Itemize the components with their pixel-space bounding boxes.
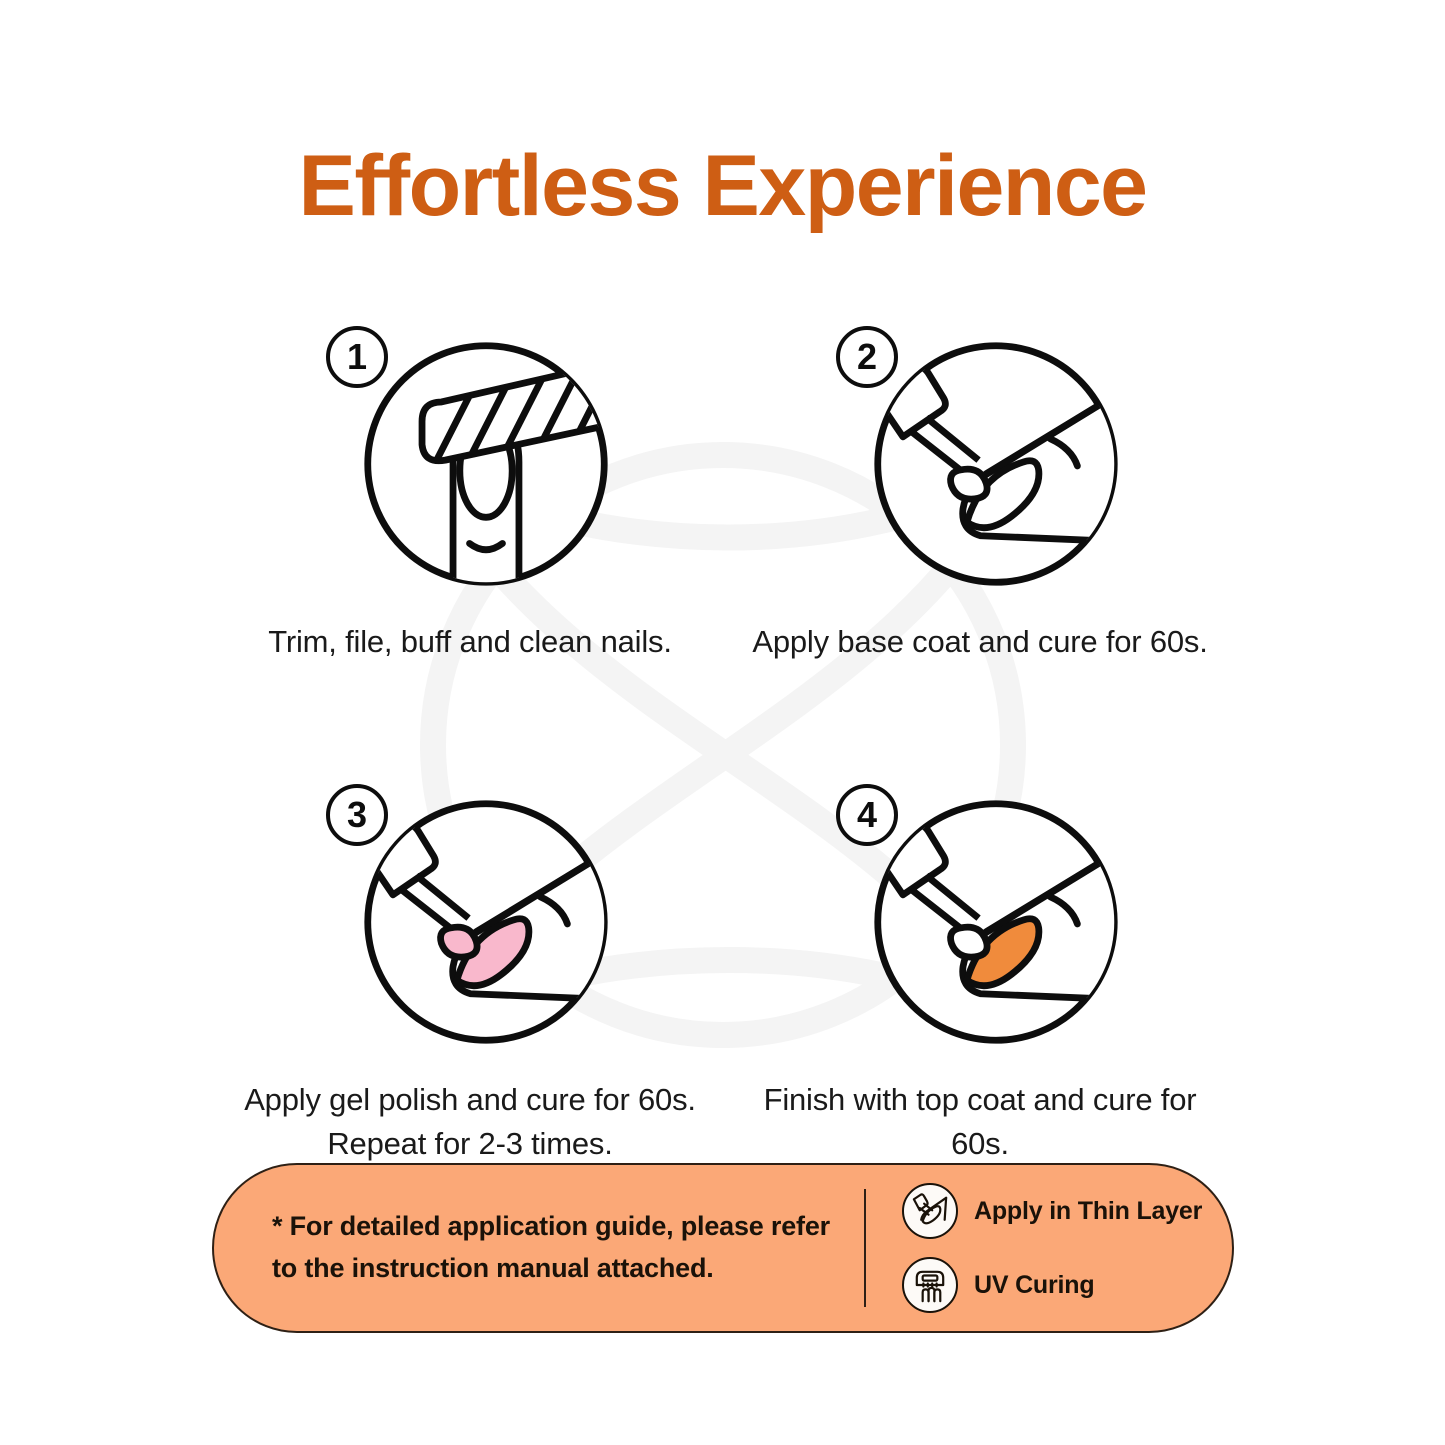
steps-row-top: 1 bbox=[230, 318, 1220, 664]
banner-note-text: * For detailed application guide, please… bbox=[214, 1206, 854, 1290]
step-caption-3: Apply gel polish and cure for 60s. Repea… bbox=[235, 1078, 705, 1166]
steps-grid: 1 bbox=[230, 318, 1220, 1166]
step-caption-2: Apply base coat and cure for 60s. bbox=[745, 620, 1215, 664]
step-illustration-wrap-1: 1 bbox=[320, 318, 620, 598]
brush-base-coat-icon bbox=[870, 338, 1122, 590]
step-caption-1: Trim, file, buff and clean nails. bbox=[235, 620, 705, 664]
page-title: Effortless Experience bbox=[0, 141, 1445, 231]
thin-layer-brush-icon bbox=[902, 1183, 958, 1239]
step-number-badge-2: 2 bbox=[836, 326, 898, 388]
steps-row-bottom: 3 bbox=[230, 776, 1220, 1166]
step-number-badge-1: 1 bbox=[326, 326, 388, 388]
step-illustration-wrap-3: 3 bbox=[320, 776, 620, 1056]
banner-features: Apply in Thin Layer U bbox=[866, 1183, 1232, 1313]
brush-top-coat-orange-icon bbox=[870, 796, 1122, 1048]
footer-banner: * For detailed application guide, please… bbox=[212, 1163, 1234, 1333]
feature-uv-curing: UV Curing bbox=[902, 1257, 1232, 1313]
step-card-1: 1 bbox=[230, 318, 710, 664]
step-illustration-wrap-2: 2 bbox=[830, 318, 1130, 598]
step-number-badge-4: 4 bbox=[836, 784, 898, 846]
step-card-3: 3 bbox=[230, 776, 710, 1166]
step-card-2: 2 bbox=[740, 318, 1220, 664]
infographic-page: Effortless Experience 1 bbox=[0, 0, 1445, 1445]
feature-label-thin-layer: Apply in Thin Layer bbox=[974, 1197, 1202, 1226]
uv-lamp-hand-icon bbox=[902, 1257, 958, 1313]
step-number-badge-3: 3 bbox=[326, 784, 388, 846]
feature-label-uv-curing: UV Curing bbox=[974, 1271, 1094, 1300]
feature-thin-layer: Apply in Thin Layer bbox=[902, 1183, 1232, 1239]
nail-file-on-finger-icon bbox=[360, 338, 612, 590]
step-illustration-wrap-4: 4 bbox=[830, 776, 1130, 1056]
brush-gel-polish-pink-icon bbox=[360, 796, 612, 1048]
step-caption-4: Finish with top coat and cure for 60s. bbox=[745, 1078, 1215, 1166]
step-card-4: 4 bbox=[740, 776, 1220, 1166]
